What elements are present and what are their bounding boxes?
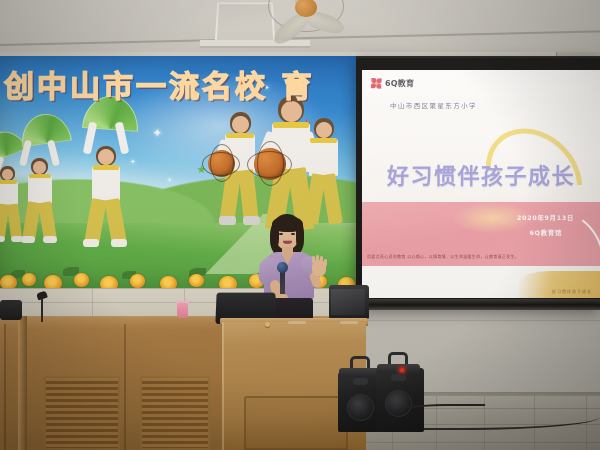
slide-brand-logo: 6Q教育 [371, 78, 414, 89]
slide-date: 2020年9月13日 [517, 212, 574, 222]
lectern-front-panel [244, 396, 348, 450]
photo-scene: ✦ ✦ ✦ ✦ ✦ ✦ ✦ ✦ ✦ ✦ [0, 0, 600, 450]
banner-headline: 创中山市一流名校 育 [4, 62, 360, 106]
lectern-knob [265, 322, 270, 327]
screen-bottom-bar [350, 299, 600, 310]
chair-back [0, 300, 22, 320]
banner-child-dancer [18, 136, 62, 248]
speaker-tweeter [353, 378, 368, 385]
pink-cup [177, 303, 188, 318]
podium-louver-panel [44, 376, 120, 450]
speaker-cable [395, 404, 485, 418]
slide-main-title: 好习惯伴孩子成长 [362, 159, 600, 191]
presenter-eye [279, 233, 283, 235]
presenter-hair-fringe [272, 216, 303, 232]
slide-gold-band-text: 好习惯伴孩子成长 [552, 289, 592, 295]
portable-speaker-right [376, 368, 424, 432]
presenter-waving-hand [312, 260, 326, 276]
presenter-eye [291, 233, 295, 235]
microphone-head-icon [277, 262, 288, 273]
speaker-tweeter [391, 374, 406, 381]
speaker-power-led-icon [399, 367, 405, 373]
ceiling-fan [268, 0, 344, 32]
speaker-woofer [347, 394, 374, 421]
basketball [254, 148, 286, 180]
podium-louver-panel [140, 376, 210, 450]
projected-slide: 好习惯伴孩子成长 6Q教育 中山市西区聚星东方小学 好习惯伴孩子成长 2020年… [362, 70, 600, 298]
black-monitor-right-screen [331, 289, 365, 315]
podium-post [18, 316, 27, 450]
lectern-slot [288, 321, 306, 324]
slide-logo-text: 6Q教育 [385, 78, 414, 89]
lectern-slot [340, 321, 358, 324]
desk-microphone-stand [41, 296, 43, 322]
slide-subtitle: 中山市西区聚星东方小学 [390, 100, 477, 110]
presenter-smile [283, 240, 292, 244]
slide-organization: 6Q教育馆 [529, 227, 562, 237]
podium-seam [124, 324, 126, 450]
banner-child-dancer [80, 120, 132, 248]
flower-logo-icon [371, 78, 382, 89]
slide-footnote: 用爱点亮心灵的教育 以心唤心，以情育情，以生命温暖生命，让教育真正发生。 [367, 254, 517, 260]
ceiling-vent-lip [200, 40, 310, 48]
podium-seam [4, 324, 6, 450]
ceiling-vent [215, 2, 276, 43]
basketball [208, 150, 235, 177]
